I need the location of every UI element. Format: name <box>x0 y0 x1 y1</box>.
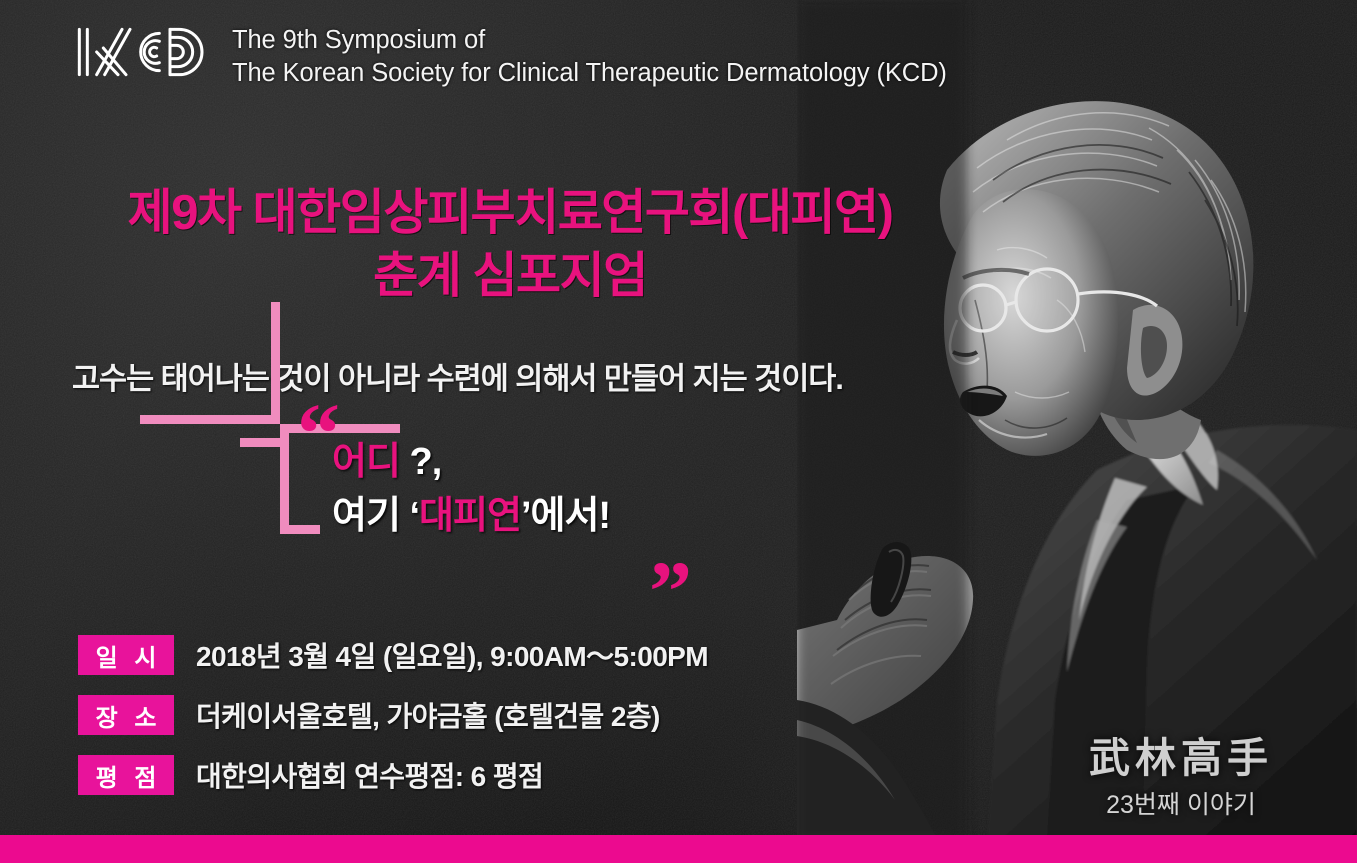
header-line-2: The Korean Society for Clinical Therapeu… <box>232 57 947 90</box>
title-line-2: 춘계 심포지엄 <box>70 245 950 308</box>
kcd-logo-icon <box>70 16 210 88</box>
quote-line-2-white-b: ’에서! <box>521 495 610 537</box>
header-line-1: The 9th Symposium of <box>232 24 947 57</box>
quote-line-2-pink: 대피연 <box>419 495 521 537</box>
info-row-credits: 평 점 대한의사협회 연수평점: 6 평점 <box>78 754 708 796</box>
bottom-accent-bar <box>0 835 1357 863</box>
quote-text: 어디 ?, 여기 ‘대피연’에서! <box>332 436 610 544</box>
info-value-date: 2018년 3월 4일 (일요일), 9:00AM〜5:00PM <box>196 635 708 675</box>
info-value-credits: 대한의사협회 연수평점: 6 평점 <box>196 755 543 795</box>
main-title: 제9차 대한임상피부치료연구회(대피연) 춘계 심포지엄 <box>70 182 950 307</box>
quote-box: “ ” 어디 ?, 여기 ‘대피연’에서! <box>280 424 710 572</box>
title-line-1: 제9차 대한임상피부치료연구회(대피연) <box>70 182 950 245</box>
info-label-venue: 장 소 <box>78 695 174 735</box>
info-value-venue: 더케이서울호텔, 가야금홀 (호텔건물 2층) <box>196 695 660 735</box>
info-row-date: 일 시 2018년 3월 4일 (일요일), 9:00AM〜5:00PM <box>78 634 708 676</box>
symposium-poster: The 9th Symposium of The Korean Society … <box>0 0 1357 863</box>
header-title-group: The 9th Symposium of The Korean Society … <box>232 16 947 90</box>
quote-line-1-pink: 어디 <box>332 441 400 483</box>
quote-line-1-white: ?, <box>400 441 441 483</box>
subtitle-tagline: 고수는 태어나는 것이 아니라 수련에 의해서 만들어 지는 것이다. <box>72 354 952 398</box>
info-row-venue: 장 소 더케이서울호텔, 가야금홀 (호텔건물 2층) <box>78 694 708 736</box>
quote-line-2-white-a: 여기 ‘ <box>332 495 419 537</box>
event-details: 일 시 2018년 3월 4일 (일요일), 9:00AM〜5:00PM 장 소… <box>78 634 708 814</box>
poster-header: The 9th Symposium of The Korean Society … <box>70 16 947 90</box>
info-label-credits: 평 점 <box>78 755 174 795</box>
quote-close-icon: ” <box>649 548 692 634</box>
quote-line-2: 여기 ‘대피연’에서! <box>332 490 610 544</box>
info-label-date: 일 시 <box>78 635 174 675</box>
quote-line-1: 어디 ?, <box>332 436 610 490</box>
